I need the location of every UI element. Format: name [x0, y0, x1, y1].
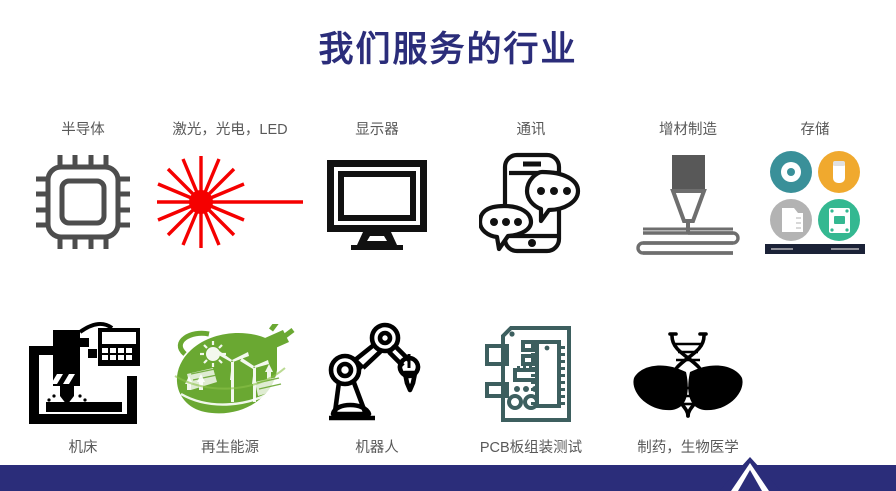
smartphone-chat-icon: [456, 146, 606, 258]
cnc-machine-icon: [8, 318, 158, 430]
industry-label: 通讯: [456, 120, 606, 140]
industry-label: 机器人: [302, 438, 452, 458]
industry-label: 半导体: [8, 120, 158, 140]
industry-label: 激光，光电，LED: [145, 120, 315, 140]
industry-item-laser[interactable]: 激光，光电，LED: [145, 120, 315, 258]
industry-label: 存储: [740, 120, 890, 140]
industry-label: 显示器: [302, 120, 452, 140]
industry-grid: 半导体: [0, 120, 896, 468]
industry-item-storage[interactable]: 存储: [740, 120, 890, 258]
slide-root: 我们服务的行业 半导体: [0, 0, 896, 491]
industry-item-renewable-energy[interactable]: 再生能源: [145, 318, 315, 458]
dna-leaf-icon: [603, 318, 773, 430]
industry-row-bottom: 机床: [0, 318, 896, 468]
industry-row-top: 半导体: [0, 120, 896, 280]
industry-label: 制药，生物医学: [603, 438, 773, 458]
industry-item-pcb-assembly-test[interactable]: PCB板组装测试: [436, 318, 626, 458]
industry-item-robotics[interactable]: 机器人: [302, 318, 452, 458]
circuit-board-icon: [436, 318, 626, 430]
page-title: 我们服务的行业: [0, 28, 896, 72]
monitor-display-icon: [302, 146, 452, 258]
industry-label: 机床: [8, 438, 158, 458]
storage-media-icon: [740, 146, 890, 258]
laser-beam-icon: [145, 146, 315, 258]
industry-item-pharma-biomedical[interactable]: 制药，生物医学: [603, 318, 773, 458]
industry-item-semiconductor[interactable]: 半导体: [8, 120, 158, 258]
green-energy-leaf-icon: [145, 318, 315, 430]
robot-arm-icon: [302, 318, 452, 430]
industry-label: PCB板组装测试: [436, 438, 626, 458]
industry-item-machine-tool[interactable]: 机床: [8, 318, 158, 458]
industry-item-display[interactable]: 显示器: [302, 120, 452, 258]
microchip-icon: [8, 146, 158, 258]
triangle-logo-icon: [719, 457, 781, 491]
industry-label: 再生能源: [145, 438, 315, 458]
industry-item-communications[interactable]: 通讯: [456, 120, 606, 258]
